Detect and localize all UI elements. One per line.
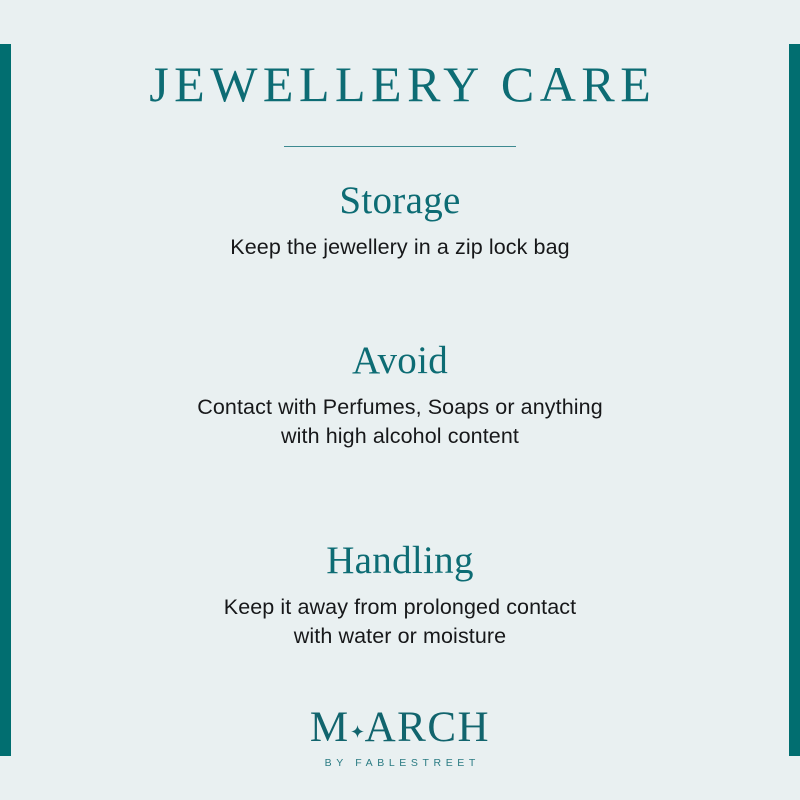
section-body-handling: Keep it away from prolonged contact with… bbox=[0, 593, 800, 650]
section-heading-storage: Storage bbox=[0, 178, 800, 225]
care-section-avoid: Avoid Contact with Perfumes, Soaps or an… bbox=[0, 338, 800, 450]
care-section-storage: Storage Keep the jewellery in a zip lock… bbox=[0, 178, 800, 261]
section-body-storage: Keep the jewellery in a zip lock bag bbox=[0, 233, 800, 262]
section-body-avoid: Contact with Perfumes, Soaps or anything… bbox=[0, 393, 800, 450]
jewellery-care-poster: JEWELLERY CARE Storage Keep the jeweller… bbox=[0, 0, 800, 800]
brand-logo: M ARCH BY FABLESTREET bbox=[0, 706, 800, 769]
page-title: JEWELLERY CARE bbox=[0, 56, 800, 112]
section-heading-avoid: Avoid bbox=[0, 338, 800, 385]
title-divider bbox=[284, 146, 516, 147]
four-point-star-icon bbox=[351, 725, 364, 738]
logo-letters-arch: ARCH bbox=[365, 706, 490, 749]
section-heading-handling: Handling bbox=[0, 538, 800, 585]
care-section-handling: Handling Keep it away from prolonged con… bbox=[0, 538, 800, 650]
logo-wordmark: M ARCH bbox=[310, 706, 490, 749]
poster-header: JEWELLERY CARE bbox=[0, 56, 800, 147]
care-sections: Storage Keep the jewellery in a zip lock… bbox=[0, 178, 800, 650]
logo-tagline: BY FABLESTREET bbox=[0, 758, 800, 769]
logo-letter-m: M bbox=[310, 706, 350, 749]
